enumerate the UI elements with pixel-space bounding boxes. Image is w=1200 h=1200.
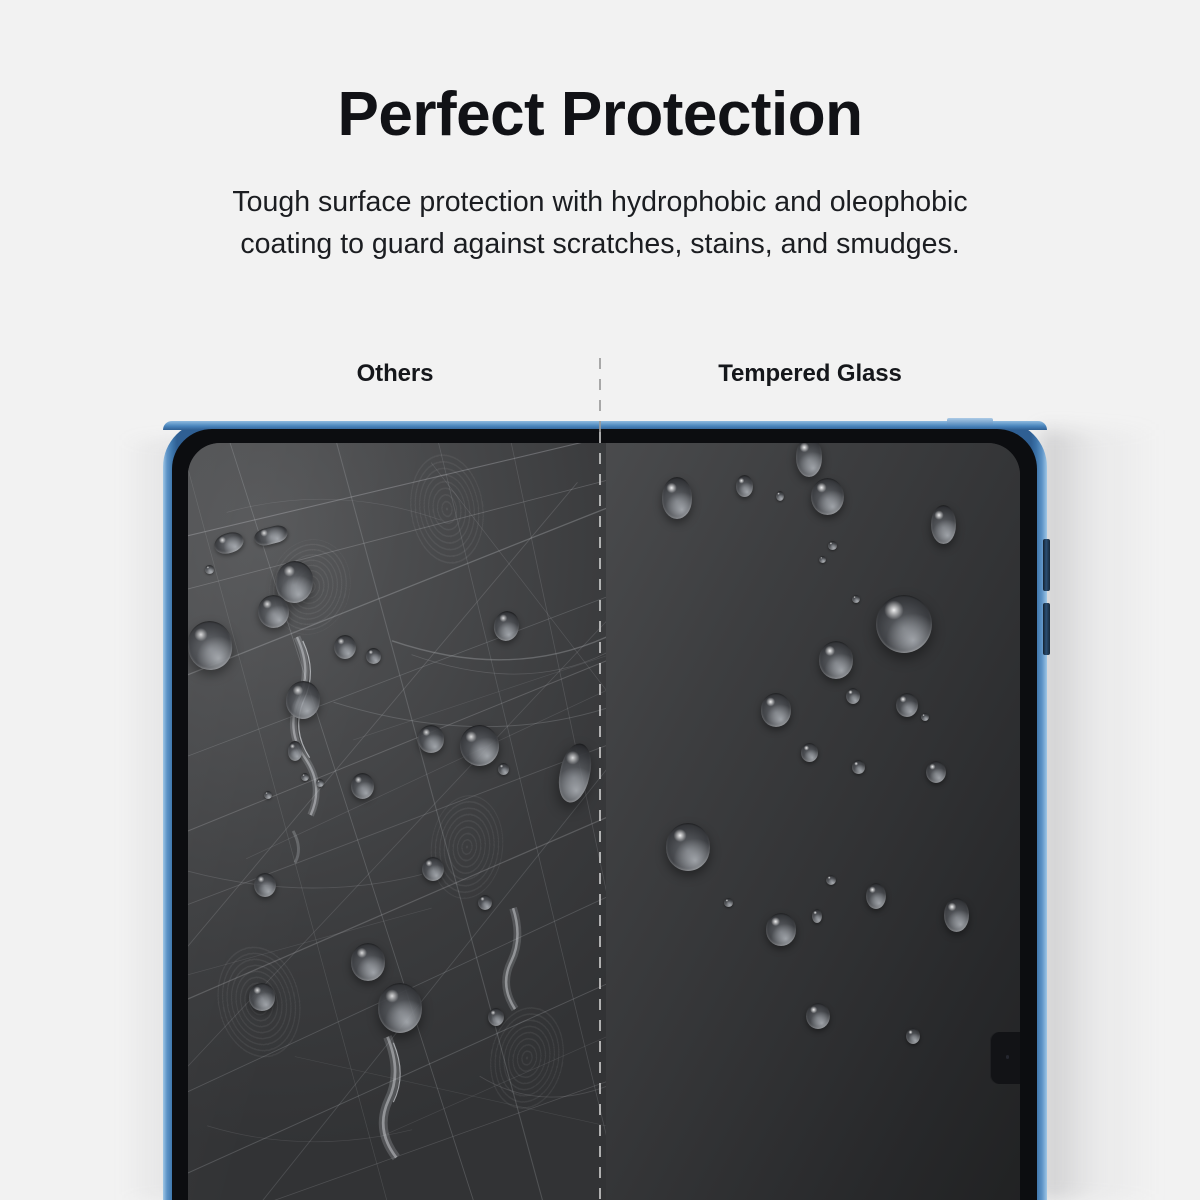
water-droplet (921, 713, 929, 721)
water-droplet (666, 823, 710, 871)
comparison-label-tempered-glass: Tempered Glass (655, 360, 965, 388)
water-droplet (736, 475, 753, 497)
subtitle-line-2: coating to guard against scratches, stai… (0, 224, 1200, 266)
water-droplet (478, 895, 492, 910)
comparison-label-others: Others (240, 360, 550, 388)
screen-cutout (990, 1032, 1020, 1084)
water-droplet (761, 693, 791, 727)
volume-up-button[interactable] (1043, 539, 1050, 591)
water-droplet (906, 1028, 920, 1044)
water-droplet (926, 761, 946, 783)
water-droplet (205, 565, 214, 574)
water-droplet (249, 983, 275, 1011)
water-droplet (378, 983, 422, 1033)
water-droplet (876, 595, 932, 653)
phone-bezel (172, 429, 1037, 1200)
water-droplet (264, 791, 272, 799)
water-droplet (351, 943, 385, 981)
water-droplet (254, 873, 276, 897)
subtitle-line-1: Tough surface protection with hydrophobi… (0, 182, 1200, 224)
water-droplet (828, 541, 837, 550)
water-droplet (662, 477, 692, 519)
water-droplet (819, 556, 826, 563)
phone-screen (188, 443, 1020, 1200)
product-marketing-banner: Perfect Protection Tough surface protect… (0, 0, 1200, 1200)
water-droplet (488, 1008, 504, 1026)
water-droplet (944, 898, 969, 932)
water-droplet (866, 883, 886, 909)
water-droplet (826, 875, 836, 885)
water-droplet (366, 648, 381, 664)
water-droplet (422, 857, 444, 881)
page-title: Perfect Protection (0, 84, 1200, 146)
antenna-band (947, 418, 993, 426)
phone-shadow-right (1040, 430, 1160, 1200)
page-subtitle: Tough surface protection with hydrophobi… (0, 182, 1200, 265)
water-droplet (288, 741, 302, 761)
water-droplet (418, 725, 444, 753)
water-droplet (301, 773, 309, 781)
water-droplet (811, 478, 844, 515)
water-droplet (806, 1003, 830, 1029)
tempered-panel-base (606, 443, 1020, 1200)
water-droplet (316, 779, 324, 787)
volume-down-button[interactable] (1043, 603, 1050, 655)
water-droplet (766, 913, 796, 946)
water-droplet (852, 760, 865, 774)
comparison-divider (599, 358, 601, 432)
water-droplet (498, 763, 509, 775)
water-droplet (776, 491, 784, 501)
surface-tempered-glass (606, 443, 1020, 1200)
water-droplet (819, 641, 853, 679)
water-streaks (188, 443, 606, 1200)
water-droplet (334, 635, 356, 659)
water-droplet (896, 693, 918, 717)
water-droplet (801, 743, 818, 762)
water-droplet (846, 688, 860, 704)
smartphone-device (163, 421, 1047, 1200)
comparison-divider-overlay (599, 432, 601, 1200)
water-droplet (351, 773, 374, 799)
surface-others (188, 443, 606, 1200)
screen-cutout-dot (1006, 1055, 1010, 1059)
water-droplet (852, 595, 860, 603)
water-droplet (724, 898, 733, 907)
water-droplet (931, 505, 956, 544)
water-droplet (812, 909, 822, 923)
